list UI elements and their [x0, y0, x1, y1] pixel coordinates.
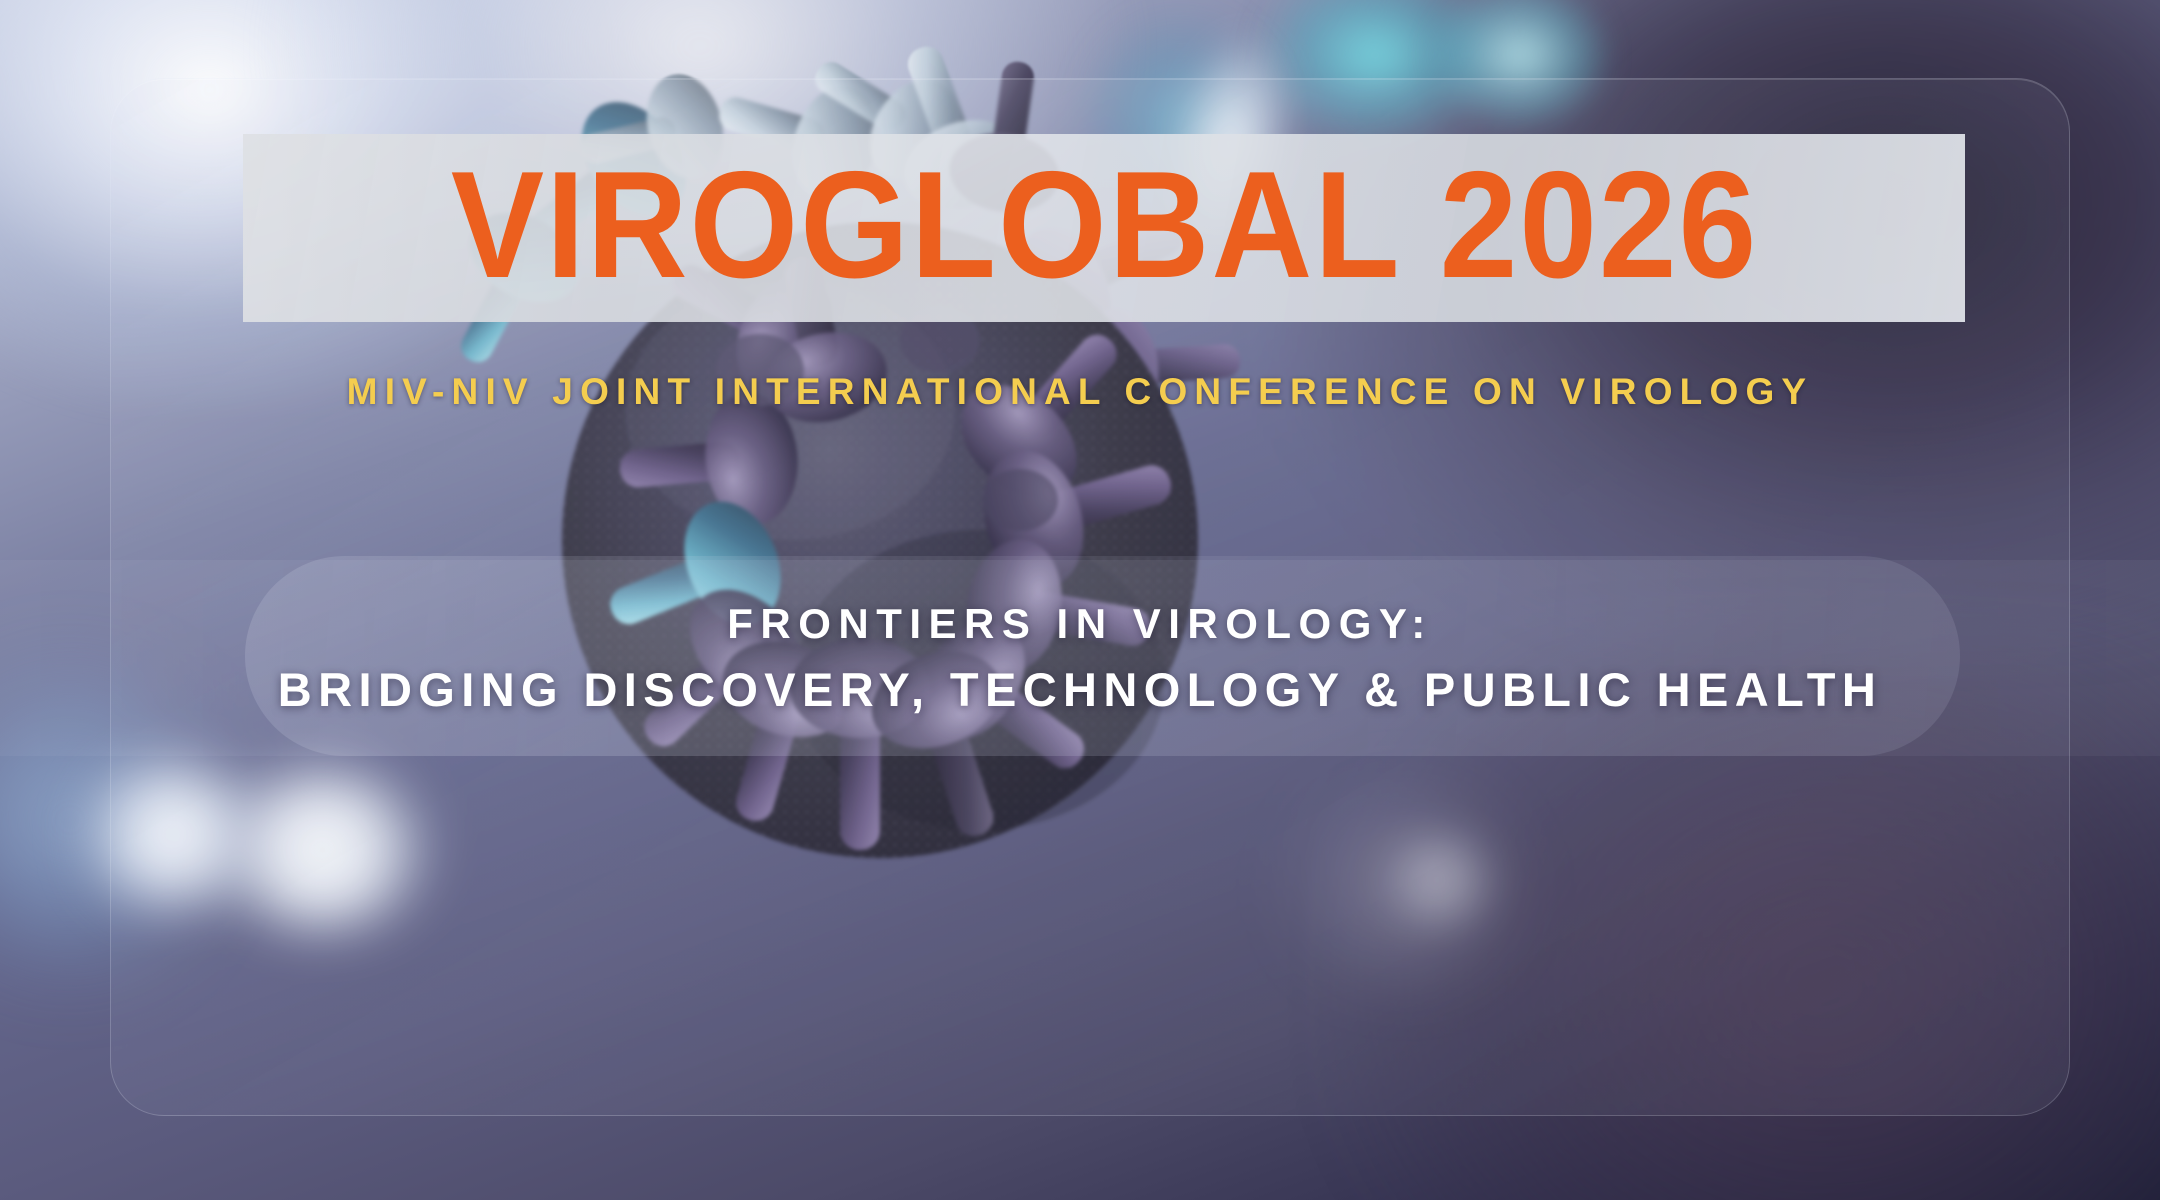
- tagline-line-1: FRONTIERS IN VIROLOGY:: [727, 600, 1433, 648]
- tagline-line-2: BRIDGING DISCOVERY, TECHNOLOGY & PUBLIC …: [278, 662, 1882, 717]
- conference-banner: VIROGLOBAL 2026 MIV-NIV JOINT INTERNATIO…: [0, 0, 2160, 1200]
- title-panel: VIROGLOBAL 2026: [243, 134, 1965, 322]
- tagline-group: FRONTIERS IN VIROLOGY: BRIDGING DISCOVER…: [0, 600, 2160, 717]
- subtitle-row: MIV-NIV JOINT INTERNATIONAL CONFERENCE O…: [0, 371, 2160, 413]
- page-title: VIROGLOBAL 2026: [450, 149, 1757, 307]
- conference-subtitle: MIV-NIV JOINT INTERNATIONAL CONFERENCE O…: [347, 371, 1814, 413]
